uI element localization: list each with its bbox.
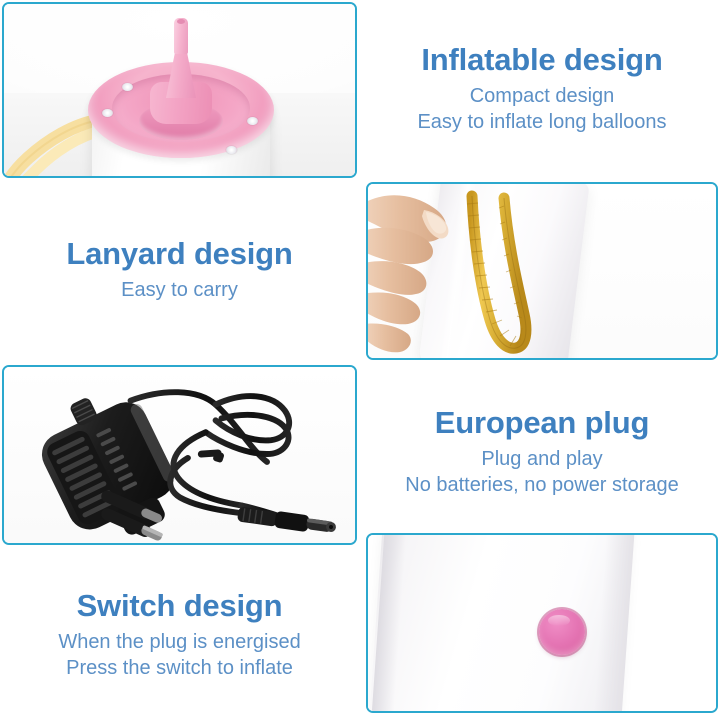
- feature-subline: No batteries, no power storage: [405, 472, 679, 498]
- feature-subline: Press the switch to inflate: [66, 655, 293, 681]
- gold-ribbon-lanyard-icon: [464, 190, 574, 358]
- panel-switch-design: [366, 533, 718, 713]
- panel-inflatable-design: [2, 2, 357, 178]
- feature-subline: Easy to carry: [121, 277, 238, 303]
- panel-european-plug: [2, 365, 357, 545]
- feature-text-lanyard-design: Lanyard design Easy to carry: [2, 200, 357, 340]
- feature-subline: Plug and play: [481, 446, 602, 472]
- power-adapter-photo: [4, 367, 355, 543]
- feature-text-european-plug: European plug Plug and play No batteries…: [366, 382, 718, 522]
- panel-lanyard-design: [366, 182, 718, 360]
- feature-subline: Easy to inflate long balloons: [417, 109, 666, 135]
- feature-subline: Compact design: [470, 83, 615, 109]
- hand-icon: [368, 188, 470, 358]
- feature-title: Switch design: [77, 589, 283, 624]
- power-switch-button: [539, 609, 585, 655]
- feature-title: Lanyard design: [66, 237, 292, 272]
- feature-title: Inflatable design: [421, 43, 662, 78]
- infographic-sheet: Inflatable design Compact design Easy to…: [0, 0, 720, 717]
- pump-switch-photo: [368, 535, 716, 711]
- feature-text-inflatable-design: Inflatable design Compact design Easy to…: [366, 14, 718, 164]
- feature-text-switch-design: Switch design When the plug is energised…: [2, 570, 357, 700]
- pump-nozzle-photo: [4, 4, 355, 176]
- hand-holding-pump-photo: [368, 184, 716, 358]
- feature-subline: When the plug is energised: [58, 629, 300, 655]
- feature-title: European plug: [435, 406, 649, 441]
- power-adapter-icon: [4, 367, 355, 543]
